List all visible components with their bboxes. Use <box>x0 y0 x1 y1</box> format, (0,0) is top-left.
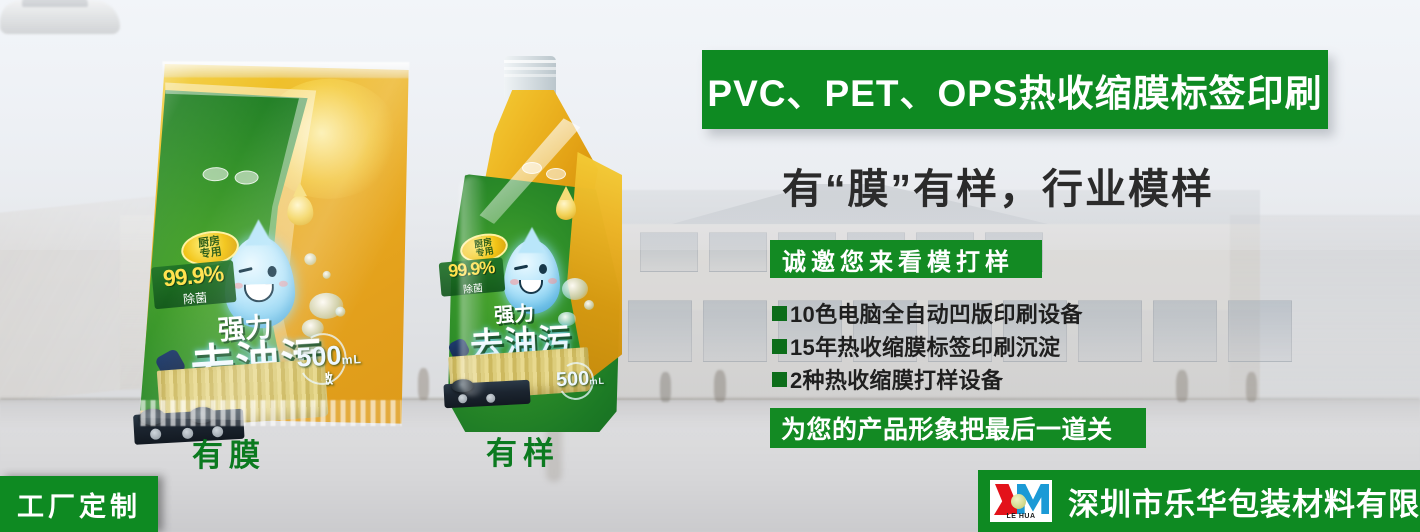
bottle-oil-droplet <box>556 196 576 220</box>
bottle-stove-knob <box>486 394 495 403</box>
bottle-gloss-highlight <box>460 176 486 396</box>
bottle-mini-tag <box>546 168 566 180</box>
pouch-percent-value: 99.9% <box>162 260 224 292</box>
invite-strip-text: 诚邀您来看模打样 <box>782 242 1014 277</box>
factory-badge-text: 工厂定制 <box>17 485 141 524</box>
product-caption-right: 有样 <box>486 428 560 473</box>
feature-item: 15年热收缩膜标签印刷沉淀 <box>772 331 1192 361</box>
pouch-percent-label: 除菌 <box>182 289 207 308</box>
pouch-volume: 500mL <box>296 339 363 374</box>
background-window <box>640 232 698 272</box>
bottle-splash <box>584 300 594 310</box>
background-window <box>709 232 767 272</box>
pouch-volume-unit: mL <box>341 352 362 367</box>
product-bottle: 厨房 专用 99.9% 除菌 强力 去油污 植物提取原材，不刺激 500mL <box>446 56 622 434</box>
mascot-smile <box>244 284 274 303</box>
feature-list: 10色电脑全自动凹版印刷设备 15年热收缩膜标签印刷沉淀 2种热收缩膜打样设备 <box>772 298 1192 397</box>
feature-item: 10色电脑全自动凹版印刷设备 <box>772 298 1192 328</box>
mascot-eye <box>539 264 547 274</box>
bottle-mini-tag <box>522 162 542 174</box>
background-pedestrian <box>714 370 726 402</box>
headline-text: PVC、PET、OPS热收缩膜标签印刷 <box>707 63 1322 117</box>
product-pouch: 厨房 专用 99.9% 除菌 强力 去油污 植物提取原材，不刺激 <box>124 55 422 433</box>
pouch-badge-line2: 专用 <box>199 247 222 261</box>
product-caption-left: 有膜 <box>192 430 266 475</box>
background-pedestrian <box>660 372 671 402</box>
factory-custom-badge: 工厂定制 <box>0 476 158 532</box>
bottle-stove-knob <box>458 394 467 403</box>
feature-item: 2种热收缩膜打样设备 <box>772 364 1192 394</box>
background-window <box>628 300 692 362</box>
mascot-cheek <box>510 279 519 285</box>
pouch-bottom-seal <box>140 400 401 426</box>
bottle-volume-unit: mL <box>589 376 605 387</box>
company-bar: LE HUA 深圳市乐华包装材料有限公司 <box>978 470 1420 532</box>
background-window <box>1228 300 1292 362</box>
company-name: 深圳市乐华包装材料有限公司 <box>1068 479 1420 524</box>
logo-circle-accent <box>1011 494 1026 509</box>
bullet-square-icon <box>772 372 787 387</box>
feature-text: 2种热收缩膜打样设备 <box>790 363 1003 395</box>
pouch-top-seal <box>162 61 409 78</box>
invite-strip: 诚邀您来看模打样 <box>770 240 1042 278</box>
mascot-cheek <box>548 278 557 284</box>
background-pedestrian <box>1246 372 1257 402</box>
closing-strip-text: 为您的产品形象把最后一道关 <box>781 410 1113 446</box>
bullet-square-icon <box>772 339 787 354</box>
bullet-square-icon <box>772 306 787 321</box>
background-window <box>703 300 767 362</box>
promotional-banner: 厨房 专用 99.9% 除菌 强力 去油污 植物提取原材，不刺激 <box>0 0 1420 532</box>
bottle-volume-value: 500 <box>555 368 589 392</box>
mascot-eye-wink <box>238 267 252 273</box>
subheadline: 有“膜”有样，行业模样 <box>782 158 1302 212</box>
pouch-stove-knob <box>150 428 162 440</box>
mascot-cheek <box>279 281 288 287</box>
feature-text: 10色电脑全自动凹版印刷设备 <box>790 297 1083 329</box>
mascot-smile <box>519 280 543 294</box>
pouch-volume-value: 500 <box>296 340 343 372</box>
mascot-eye-wink <box>514 265 528 271</box>
pouch-percent-box: 99.9% 除菌 <box>151 260 236 309</box>
company-logo-icon: LE HUA <box>990 480 1052 522</box>
feature-text: 15年热收缩膜标签印刷沉淀 <box>790 330 1060 362</box>
logo-wordmark: LE HUA <box>991 513 1051 520</box>
bottle-volume: 500mL <box>555 367 605 393</box>
background-car <box>0 0 120 34</box>
closing-strip: 为您的产品形象把最后一道关 <box>770 408 1146 448</box>
headline-banner: PVC、PET、OPS热收缩膜标签印刷 <box>702 50 1328 129</box>
bottle-splash <box>562 278 588 300</box>
bottle-stovetop <box>443 380 530 408</box>
mascot-eye <box>267 266 276 277</box>
